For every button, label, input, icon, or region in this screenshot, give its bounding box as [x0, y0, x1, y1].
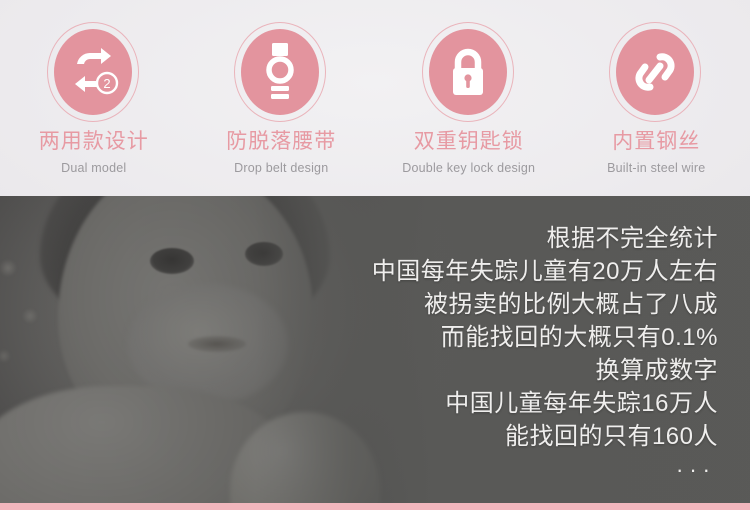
feature-item-double-key-lock[interactable]: 双重钥匙锁 Double key lock design: [375, 0, 563, 196]
chain-link-icon: [616, 29, 694, 115]
feature-icon-wrap: 2: [47, 22, 141, 124]
padlock-icon: [429, 29, 507, 115]
svg-text:2: 2: [103, 76, 110, 91]
feature-title-en: Dual model: [61, 161, 126, 175]
belt-buckle-icon: [241, 29, 319, 115]
feature-title-cn: 双重钥匙锁: [414, 130, 524, 153]
feature-title-cn: 防脱落腰带: [226, 130, 336, 153]
feature-icon-wrap: [234, 22, 328, 124]
feature-item-dual-model[interactable]: 2 两用款设计 Dual model: [0, 0, 188, 196]
statistics-line: 换算成数字: [298, 354, 718, 387]
feature-title-en: Built-in steel wire: [607, 161, 705, 175]
feature-icon-wrap: [422, 22, 516, 124]
statistics-line: 能找回的只有160人: [298, 420, 718, 453]
feature-list: 2 两用款设计 Dual model: [0, 0, 750, 196]
two-way-arrows-badge-2-icon: 2: [54, 29, 132, 115]
statistics-line: 中国儿童每年失踪16万人: [298, 387, 718, 420]
feature-title-cn: 内置钢丝: [612, 130, 700, 153]
statistics-ellipsis: ···: [676, 459, 716, 481]
feature-highlights-section: 2 两用款设计 Dual model: [0, 0, 750, 196]
product-detail-page: 2 两用款设计 Dual model: [0, 0, 750, 510]
feature-title-en: Double key lock design: [402, 161, 535, 175]
statistics-line: 中国每年失踪儿童有20万人左右: [298, 255, 718, 288]
feature-icon-wrap: [609, 22, 703, 124]
feature-item-drop-belt[interactable]: 防脱落腰带 Drop belt design: [188, 0, 376, 196]
statistics-line: 根据不完全统计: [298, 222, 718, 255]
statistics-line: 而能找回的大概只有0.1%: [298, 321, 718, 354]
statistics-banner-section: 根据不完全统计 中国每年失踪儿童有20万人左右 被拐卖的比例大概占了八成 而能找…: [0, 196, 750, 510]
bottom-accent-rule: [0, 503, 750, 510]
statistics-text-block: 根据不完全统计 中国每年失踪儿童有20万人左右 被拐卖的比例大概占了八成 而能找…: [298, 222, 718, 453]
statistics-line: 被拐卖的比例大概占了八成: [298, 288, 718, 321]
feature-title-cn: 两用款设计: [39, 130, 149, 153]
feature-item-steel-wire[interactable]: 内置钢丝 Built-in steel wire: [563, 0, 750, 196]
feature-title-en: Drop belt design: [234, 161, 328, 175]
